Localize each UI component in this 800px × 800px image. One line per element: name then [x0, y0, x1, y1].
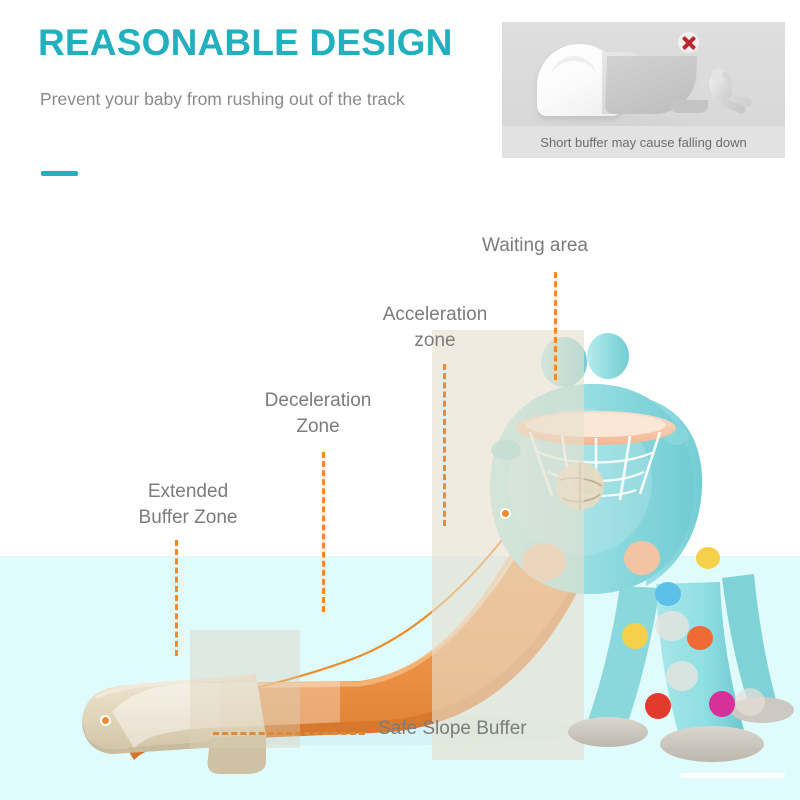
tower-ear-right [587, 333, 629, 379]
leg-knob-right [735, 688, 765, 716]
foot-back [568, 717, 648, 747]
inset-slide-groove [551, 56, 597, 89]
leader-line-extended-buffer [175, 540, 178, 656]
zone-shade-waiting-light [432, 330, 584, 760]
callout-label-safe-slope-buffer: Safe Slope Buffer [378, 716, 527, 742]
callout-label-waiting-area: Waiting area [482, 233, 588, 259]
dot-blue-1 [655, 582, 681, 606]
inset-photo [502, 22, 785, 126]
white-indicator-bar [680, 773, 785, 778]
foot-front [660, 726, 764, 762]
leg-knob-upper [655, 611, 689, 641]
leg-knob-lower [666, 661, 698, 691]
dot-orange-1 [687, 626, 713, 650]
leader-line-safe-slope-buffer [213, 732, 365, 735]
leader-line-deceleration-zone [322, 452, 325, 612]
accent-divider [41, 171, 78, 176]
dot-magenta-1 [709, 691, 735, 717]
tower-port-right [624, 541, 660, 575]
page-title: REASONABLE DESIGN [38, 22, 453, 64]
zone-block-buffer [190, 630, 300, 748]
inset-falling-figure [698, 72, 756, 116]
page-subtitle: Prevent your baby from rushing out of th… [40, 86, 430, 113]
marker-dot-slide-top [500, 508, 511, 519]
infographic-canvas: REASONABLE DESIGN Prevent your baby from… [0, 0, 800, 800]
leader-line-acceleration-zone [443, 364, 446, 526]
warning-inset-panel: Short buffer may cause falling down [502, 22, 785, 158]
dot-yellow-2 [696, 547, 720, 569]
callout-label-acceleration-zone: Acceleration zone [365, 302, 505, 354]
inset-caption: Short buffer may cause falling down [502, 126, 785, 158]
red-x-icon [678, 32, 699, 53]
callout-label-deceleration-zone: Deceleration Zone [239, 388, 397, 440]
dot-red-1 [645, 693, 671, 719]
dot-yellow-1 [622, 623, 648, 649]
callout-label-extended-buffer-zone: Extended Buffer Zone [118, 479, 258, 531]
leader-line-waiting-area [554, 272, 557, 380]
marker-dot-slide-bottom [100, 715, 111, 726]
